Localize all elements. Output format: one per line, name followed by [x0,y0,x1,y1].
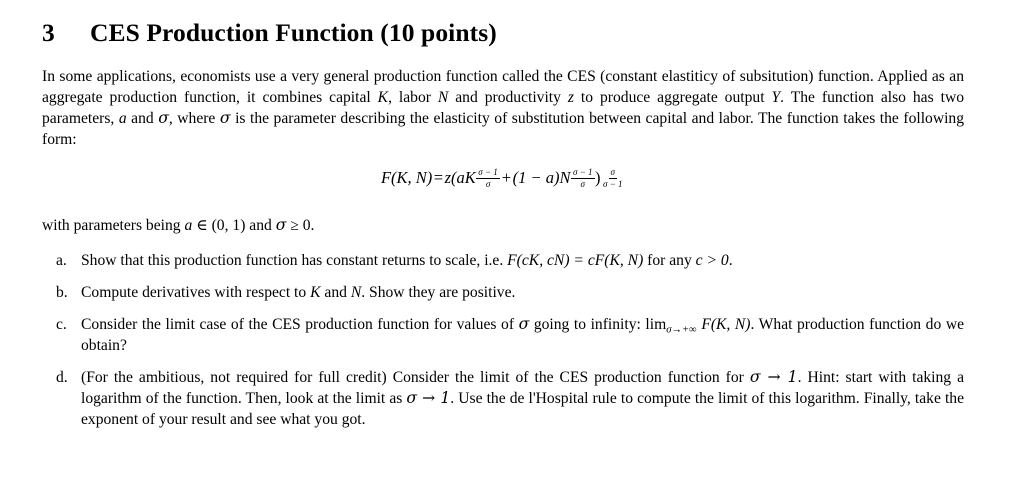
limit-operator: limσ→+∞ [645,316,696,333]
symbol-a: a [119,110,127,127]
item-marker-c: c. [56,314,80,335]
section-title: CES Production Function (10 points) [90,18,497,48]
limit-op-label: lim [645,316,666,333]
equation-lhs: F(K, N) [381,170,432,187]
intro-text-6: and [127,110,159,127]
item-text-d: (For the ambitious, not required for ful… [81,367,964,430]
item-marker-b: b. [56,282,80,303]
parameters-line: with parameters being a ∈ (0, 1) and σ ≥… [42,215,964,236]
intro-text-7: , where [169,110,220,127]
item-b-text-1: Compute derivatives with respect to [81,284,310,301]
exponent-numerator: σ − 1 [476,168,500,179]
item-a-math-2: c > 0 [696,252,729,269]
exponent-denominator: σ [579,179,587,189]
section-number: 3 [42,18,90,48]
exponent-numerator: σ − 1 [571,168,595,179]
symbol-N: N [438,89,448,106]
item-marker-d: d. [56,367,80,388]
item-a-text-2: for any [643,252,695,269]
section-heading: 3 CES Production Function (10 points) [42,18,964,48]
display-equation: F(K, N)=z(aKσ − 1σ+(1 − a)Nσ − 1σ)σσ − 1 [42,167,964,201]
item-a-text-3: . [729,252,733,269]
question-list: a. Show that this production function ha… [42,250,964,431]
exponent-denominator: σ [484,179,492,189]
item-text-b: Compute derivatives with respect to K an… [81,282,964,303]
symbol-Y: Y [771,89,780,106]
item-d-text-1: (For the ambitious, not required for ful… [81,369,750,386]
exponent-denominator: σ − 1 [601,179,625,189]
document-content: 3 CES Production Function (10 points) In… [42,18,964,431]
equation-plus: + [500,170,512,187]
list-item-a: a. Show that this production function ha… [42,250,964,271]
item-c-text-1: Consider the limit case of the CES produ… [81,316,519,333]
item-d-math-1: σ → 1 [750,368,798,386]
exponent-sigma-over-sigma-minus-1: σσ − 1 [601,168,625,189]
list-item-b: b. Compute derivatives with respect to K… [42,282,964,303]
parameters-pre: with parameters being [42,217,184,234]
intro-paragraph: In some applications, economists use a v… [42,66,964,151]
symbol-sigma-2: σ [220,109,231,127]
item-b-text-2: and [321,284,351,301]
exponent-sigma-minus-1-over-sigma-2: σ − 1σ [571,168,595,189]
limit-subscript: σ→+∞ [666,324,697,335]
exponent-numerator: σ [609,168,617,179]
item-a-math-1: F(cK, cN) = cF(K, N) [507,252,643,269]
intro-text-4: to produce aggregate output [574,89,772,106]
equation-rhs-close: ) [595,170,601,187]
item-marker-a: a. [56,250,80,271]
list-item-d: d. (For the ambitious, not required for … [42,367,964,430]
symbol-sigma: σ [276,216,287,234]
parameters-post: ≥ 0. [286,217,314,234]
equation-rhs-open: z(aK [445,170,476,187]
item-b-text-3: . Show they are positive. [361,284,515,301]
item-text-c: Consider the limit case of the CES produ… [81,314,964,356]
equation-equals: = [432,170,444,187]
item-b-math-2: N [351,284,361,301]
parameters-mid: ∈ (0, 1) and [192,217,275,234]
item-text-a: Show that this production function has c… [81,250,964,271]
item-c-math-2: F(K, N) [701,316,750,333]
item-c-text-2: going to infinity: [529,316,645,333]
symbol-sigma: σ [158,109,169,127]
item-c-math-1: σ [519,315,530,333]
document-page: 3 CES Production Function (10 points) In… [0,0,1024,493]
item-b-math-1: K [310,284,320,301]
list-item-c: c. Consider the limit case of the CES pr… [42,314,964,356]
intro-text-2: , labor [388,89,438,106]
symbol-K: K [378,89,388,106]
equation-rhs-mid: (1 − a)N [513,170,571,187]
exponent-sigma-minus-1-over-sigma-1: σ − 1σ [476,168,500,189]
item-d-math-2: σ → 1 [406,389,450,407]
intro-text-3: and productivity [448,89,568,106]
item-a-text-1: Show that this production function has c… [81,252,507,269]
